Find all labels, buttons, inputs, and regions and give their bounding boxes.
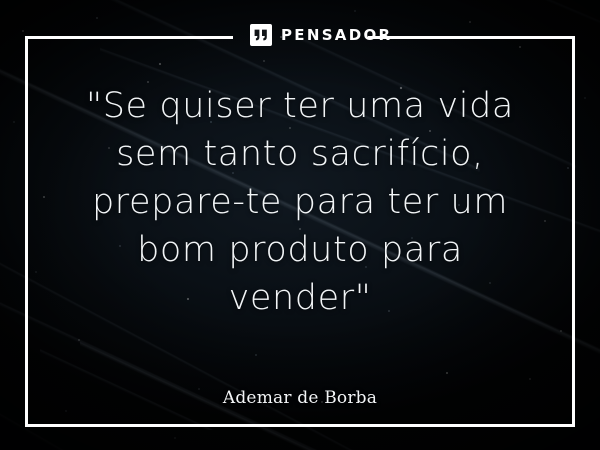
quotation-mark-icon [250, 24, 272, 46]
quote-line: sem tanto sacrifício, [34, 130, 566, 178]
brand-logo[interactable]: PENSADOR [250, 22, 392, 48]
author-name: Ademar de Borba [28, 387, 572, 409]
quote-text: "Se quiser ter uma vida sem tanto sacrif… [34, 82, 566, 322]
quote-line: bom produto para [34, 226, 566, 274]
quote-card: PENSADOR "Se quiser ter uma vida sem tan… [0, 0, 600, 450]
brand-name: PENSADOR [281, 28, 392, 43]
quote-line: prepare-te para ter um [34, 178, 566, 226]
quote-line: "Se quiser ter uma vida [34, 82, 566, 130]
quote-line: vender" [34, 274, 566, 322]
